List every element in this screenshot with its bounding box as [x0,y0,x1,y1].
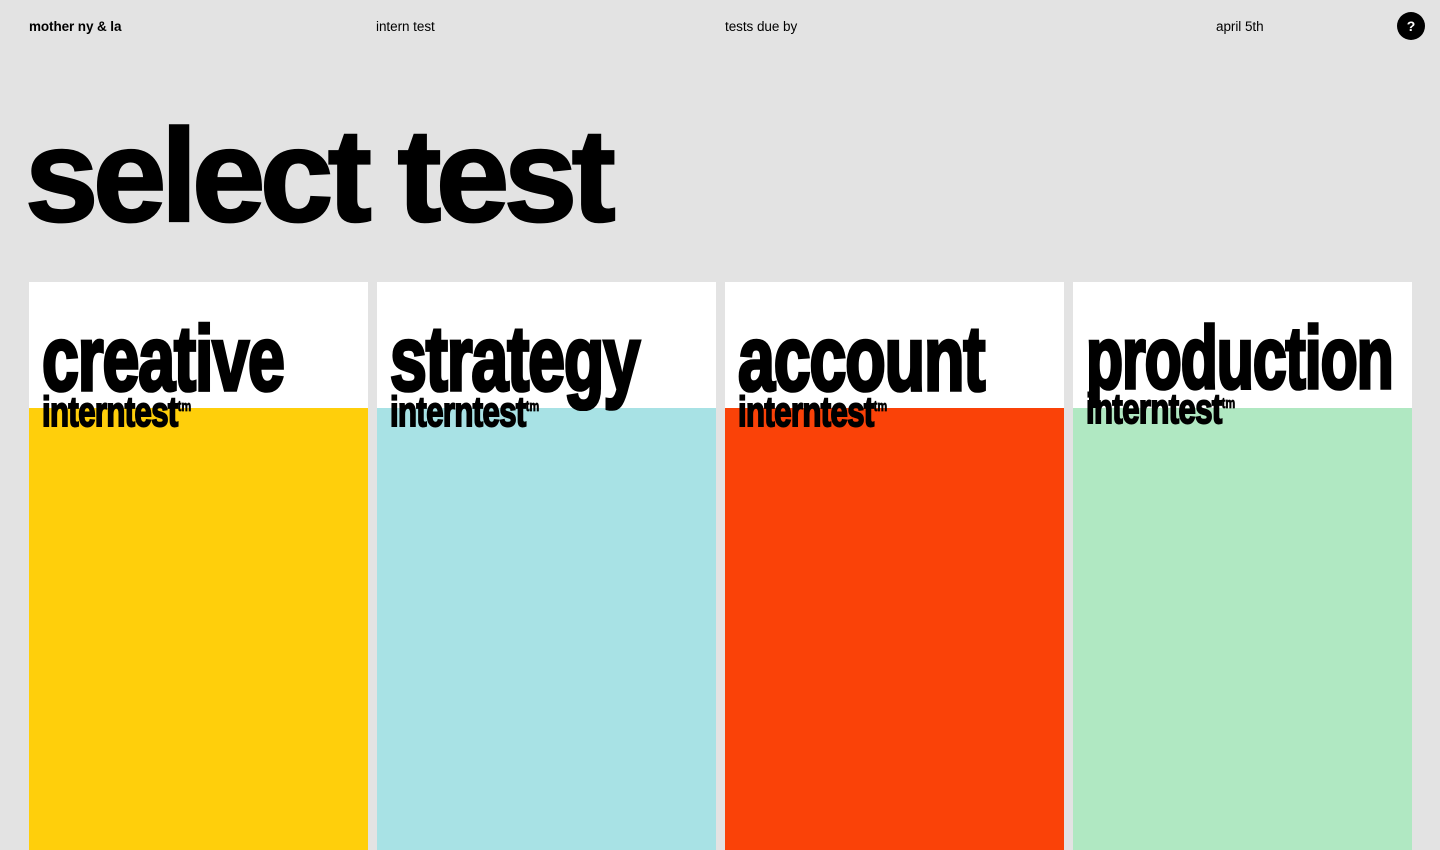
card-top-white-band [725,282,1064,408]
project-name-label: intern test [376,19,435,34]
page-title: select test [25,110,610,242]
card-top-white-band [1073,282,1412,408]
test-card-creative[interactable]: creative interntesttm [29,282,368,850]
brand-logo[interactable]: mother ny & la [29,19,121,34]
test-card-account[interactable]: account interntesttm [725,282,1064,850]
card-top-white-band [29,282,368,408]
card-color-panel [725,408,1064,850]
card-top-white-band [377,282,716,408]
test-card-strategy[interactable]: strategy interntesttm [377,282,716,850]
due-date-value: april 5th [1216,19,1264,34]
help-icon[interactable]: ? [1397,12,1425,40]
card-color-panel [29,408,368,850]
card-color-panel [377,408,716,850]
due-by-label: tests due by [725,19,797,34]
test-card-grid: creative interntesttm strategy interntes… [29,282,1412,850]
test-card-production[interactable]: production interntesttm [1073,282,1412,850]
card-color-panel [1073,408,1412,850]
top-header-bar: mother ny & la intern test tests due by … [0,0,1440,52]
